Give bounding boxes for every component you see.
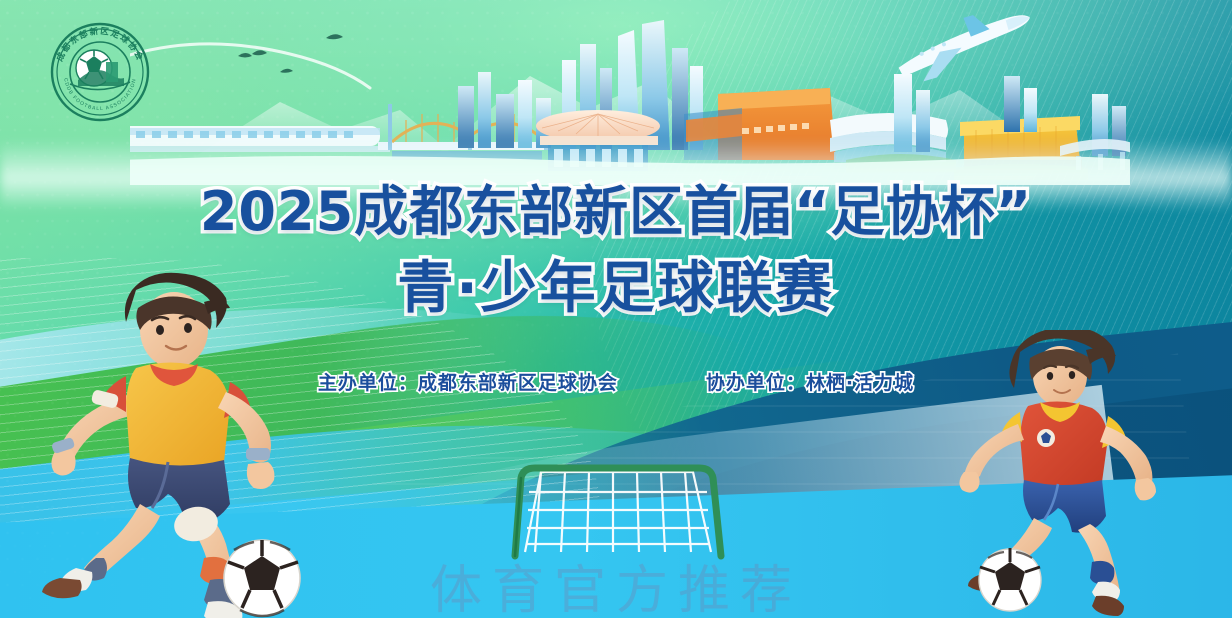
poster-canvas: 成都东部新区足球协会 CDDB FOOTBALL ASSOCIATION 202… xyxy=(0,0,1232,618)
soccer-goal xyxy=(495,448,740,563)
association-logo: 成都东部新区足球协会 CDDB FOOTBALL ASSOCIATION xyxy=(44,16,156,128)
footballer-left xyxy=(18,272,308,618)
co-organizer-label: 协办单位：林栖·活力城 xyxy=(706,368,914,395)
footballer-right xyxy=(958,330,1188,618)
organizer-label: 主办单位：成都东部新区足球协会 xyxy=(318,368,618,395)
airplane xyxy=(890,10,1038,87)
page-title: 2025成都东部新区首届“足协杯” xyxy=(0,185,1232,239)
